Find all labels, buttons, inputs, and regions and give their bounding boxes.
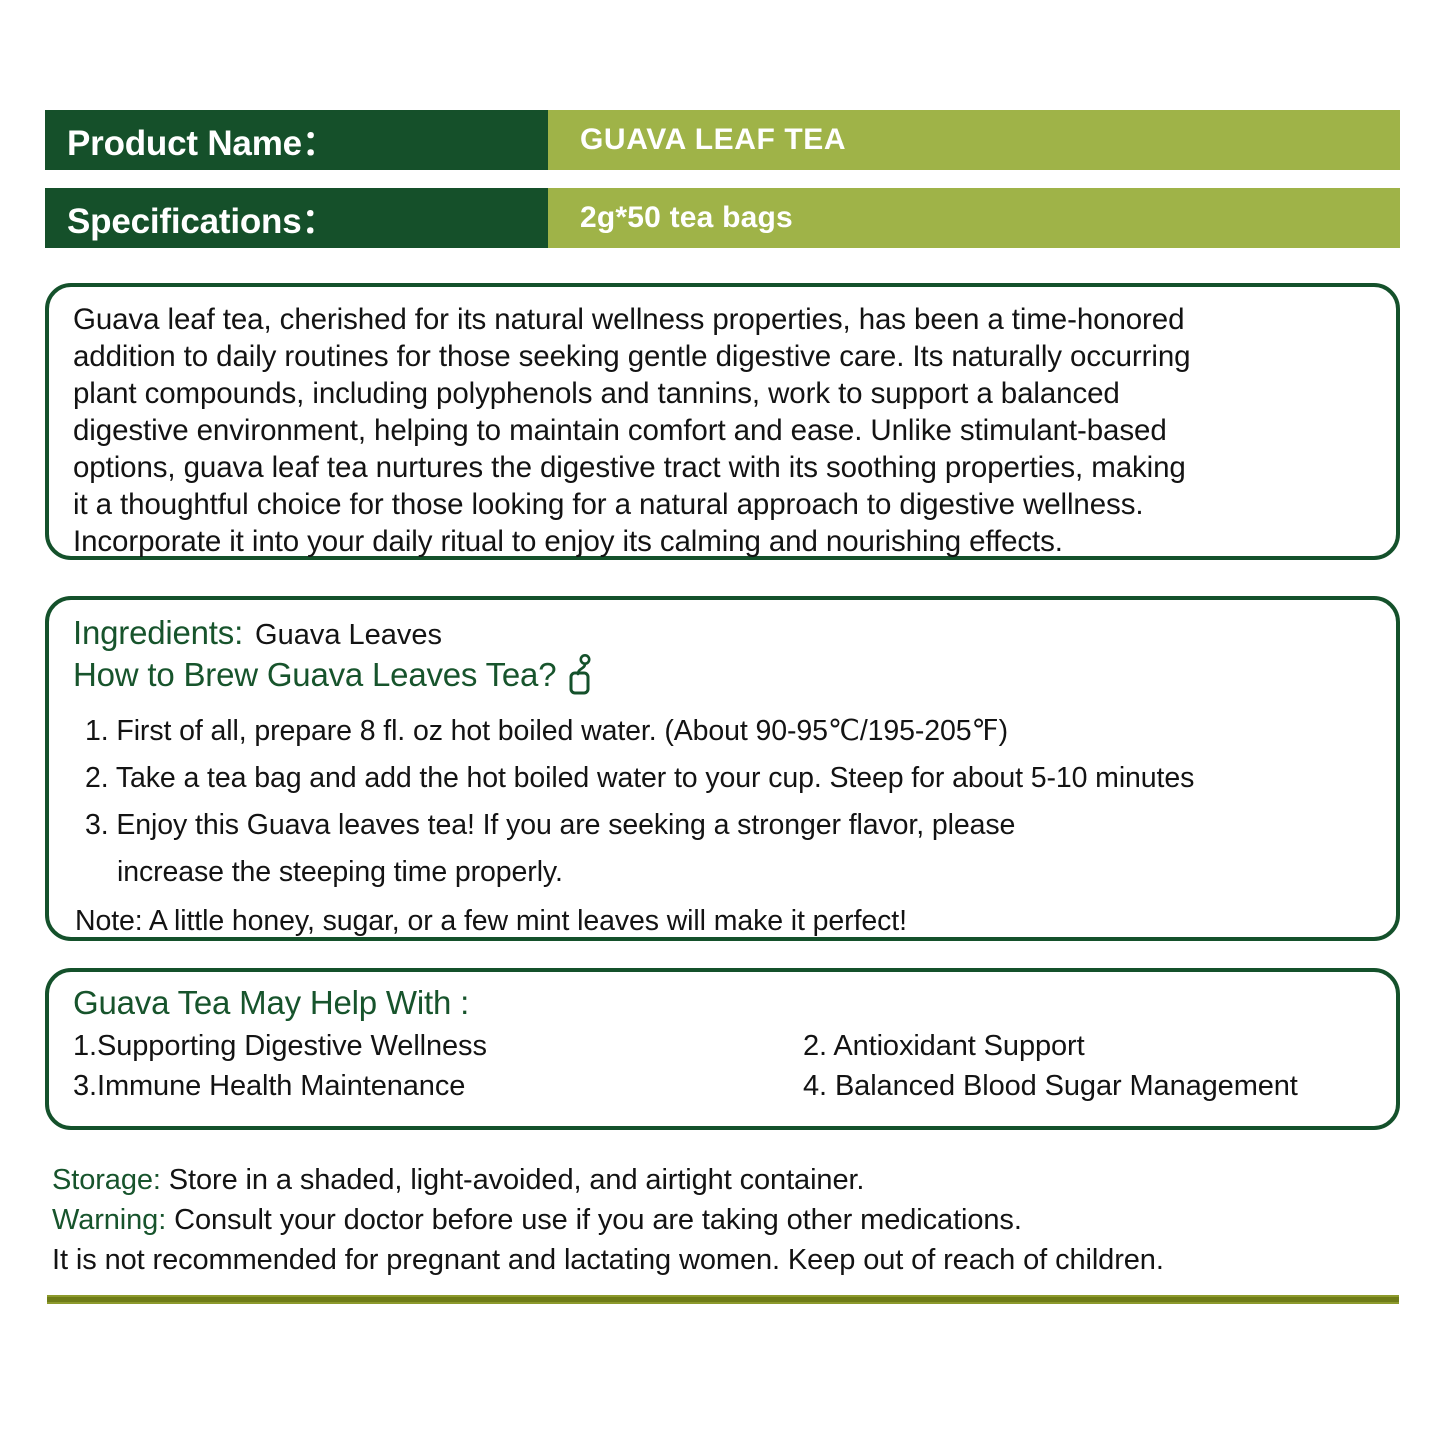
storage-text: Store in a shaded, light-avoided, and ai…	[161, 1164, 865, 1196]
ingredients-label: Ingredients:	[73, 614, 243, 652]
benefits-grid: 1.Supporting Digestive Wellness 2. Antio…	[73, 1026, 1376, 1106]
warning-line-2: It is not recommended for pregnant and l…	[52, 1240, 1402, 1280]
ingredients-value: Guava Leaves	[255, 619, 442, 652]
description-line: addition to daily routines for those see…	[73, 338, 1374, 375]
brew-heading-row: How to Brew Guava Leaves Tea?	[73, 654, 1376, 696]
brew-step: 2. Take a tea bag and add the hot boiled…	[73, 755, 1376, 802]
spec-row-product-name: Product Name： GUAVA LEAF TEA	[45, 110, 1400, 170]
benefits-card: Guava Tea May Help With : 1.Supporting D…	[45, 968, 1400, 1130]
storage-line: Storage: Store in a shaded, light-avoide…	[52, 1160, 1402, 1200]
description-line: it a thoughtful choice for those looking…	[73, 486, 1374, 523]
benefit-item: 3.Immune Health Maintenance	[73, 1066, 773, 1106]
brew-heading: How to Brew Guava Leaves Tea?	[73, 656, 556, 694]
benefit-item: 2. Antioxidant Support	[773, 1026, 1376, 1066]
specifications-value: 2g*50 tea bags	[548, 188, 1400, 248]
description-card: Guava leaf tea, cherished for its natura…	[45, 283, 1400, 560]
benefit-item: 1.Supporting Digestive Wellness	[73, 1026, 773, 1066]
description-line: digestive environment, helping to mainta…	[73, 412, 1374, 449]
footer-notes: Storage: Store in a shaded, light-avoide…	[52, 1160, 1402, 1280]
warning-line: Warning: Consult your doctor before use …	[52, 1200, 1402, 1240]
product-name-label: Product Name：	[45, 110, 548, 170]
brew-step: 3. Enjoy this Guava leaves tea! If you a…	[73, 802, 1376, 849]
storage-label: Storage:	[52, 1164, 161, 1196]
description-line: plant compounds, including polyphenols a…	[73, 375, 1374, 412]
benefits-title: Guava Tea May Help With :	[73, 984, 1376, 1022]
brew-steps-list: 1. First of all, prepare 8 fl. oz hot bo…	[73, 708, 1376, 945]
warning-label: Warning:	[52, 1204, 166, 1236]
brew-note: Note: A little honey, sugar, or a few mi…	[73, 898, 1376, 945]
tea-bag-icon	[568, 654, 594, 696]
description-line: Guava leaf tea, cherished for its natura…	[73, 301, 1374, 338]
ingredients-line: Ingredients: Guava Leaves	[73, 614, 1376, 652]
spec-row-specifications: Specifications： 2g*50 tea bags	[45, 188, 1400, 248]
benefit-item: 4. Balanced Blood Sugar Management	[773, 1066, 1376, 1106]
description-text: Guava leaf tea, cherished for its natura…	[73, 301, 1374, 560]
brew-step-continuation: increase the steeping time properly.	[73, 849, 1376, 896]
description-line: Incorporate it into your daily ritual to…	[73, 523, 1374, 560]
bottom-divider	[47, 1295, 1399, 1304]
warning-text: Consult your doctor before use if you ar…	[166, 1204, 1022, 1236]
product-name-value: GUAVA LEAF TEA	[548, 110, 1400, 170]
brew-step: 1. First of all, prepare 8 fl. oz hot bo…	[73, 708, 1376, 755]
product-label-page: Product Name： GUAVA LEAF TEA Specificati…	[0, 0, 1445, 1445]
specifications-label: Specifications：	[45, 188, 548, 248]
brewing-instructions-card: Ingredients: Guava Leaves How to Brew Gu…	[45, 596, 1400, 941]
description-line: options, guava leaf tea nurtures the dig…	[73, 449, 1374, 486]
